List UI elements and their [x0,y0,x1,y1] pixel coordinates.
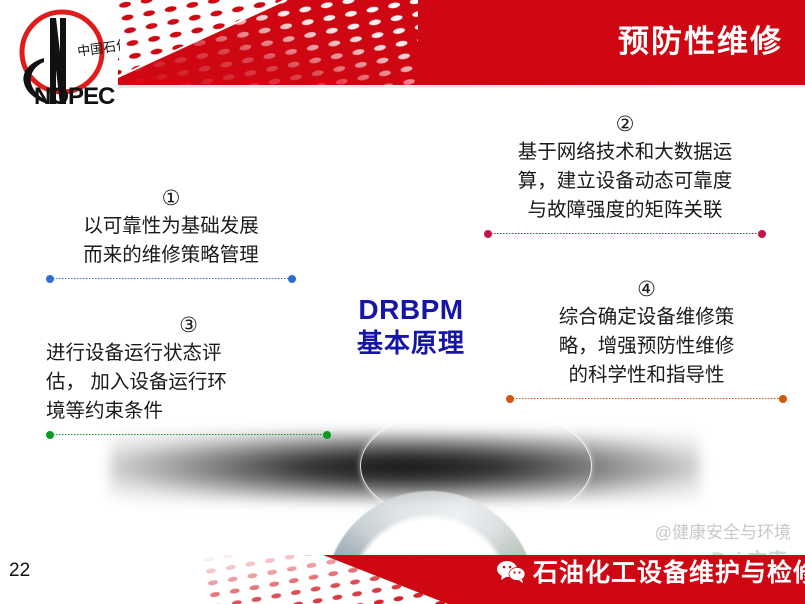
center-label: DRBPM 基本原理 [336,293,486,359]
center-label-line2: 基本原理 [336,327,486,359]
decorative-shadow [110,432,700,502]
page-title: 预防性维修 [618,22,783,62]
block-two-text: 基于网络技术和大数据运 算，建立设备动态可靠度 与故障强度的矩阵关联 [484,138,766,225]
rule-dots [50,434,327,435]
page-number: 22 [9,560,30,582]
decorative-thin-ring [360,405,592,527]
block-one-number: ① [46,186,296,212]
header-band: 预防性维修 [118,0,805,85]
rule-cap-right [288,275,296,283]
block-two-number: ② [484,112,766,138]
block-two: ② 基于网络技术和大数据运 算，建立设备动态可靠度 与故障强度的矩阵关联 [484,112,766,238]
block-three-text: 进行设备运行状态评 估， 加入设备运行环 境等约束条件 [46,339,331,426]
block-three: ③ 进行设备运行状态评 估， 加入设备运行环 境等约束条件 [46,313,331,439]
rule-dots [50,278,292,279]
slide-canvas: 预防性维修 中国石化 NOPEC ① 以可靠性为基础发展 而来的维修策略管理 ②… [0,0,805,604]
block-one-text: 以可靠性为基础发展 而来的维修策略管理 [46,212,296,270]
wechat-icon [496,559,526,583]
rule-dots [510,398,783,399]
logo-latin-text: NOPEC [34,83,115,110]
block-three-rule [46,430,331,439]
sinopec-logo: 中国石化 NOPEC [4,4,120,116]
watermark-oilnet: 石油化工设备维护与检修网 [496,553,805,589]
block-four-number: ④ [506,277,787,303]
rule-cap-right [323,431,331,439]
center-label-line1: DRBPM [336,293,486,327]
block-one: ① 以可靠性为基础发展 而来的维修策略管理 [46,186,296,283]
block-four-text: 综合确定设备维修策 略，增强预防性维修 的科学性和指导性 [506,303,787,390]
watermark-hse: @健康安全与环境 [655,518,791,543]
halftone-pattern-icon [118,0,418,85]
rule-dots [488,233,762,234]
rule-cap-right [758,230,766,238]
block-one-rule [46,274,296,283]
rule-cap-right [779,395,787,403]
block-three-number: ③ [46,313,331,339]
header-underline [118,85,805,88]
block-four: ④ 综合确定设备维修策 略，增强预防性维修 的科学性和指导性 [506,277,787,403]
block-four-rule [506,394,787,403]
logo-chinese-text: 中国石化 [76,37,120,59]
halftone-pattern-icon [203,555,463,604]
block-two-rule [484,229,766,238]
watermark-oilnet-label: 石油化工设备维护与检修网 [533,553,805,589]
